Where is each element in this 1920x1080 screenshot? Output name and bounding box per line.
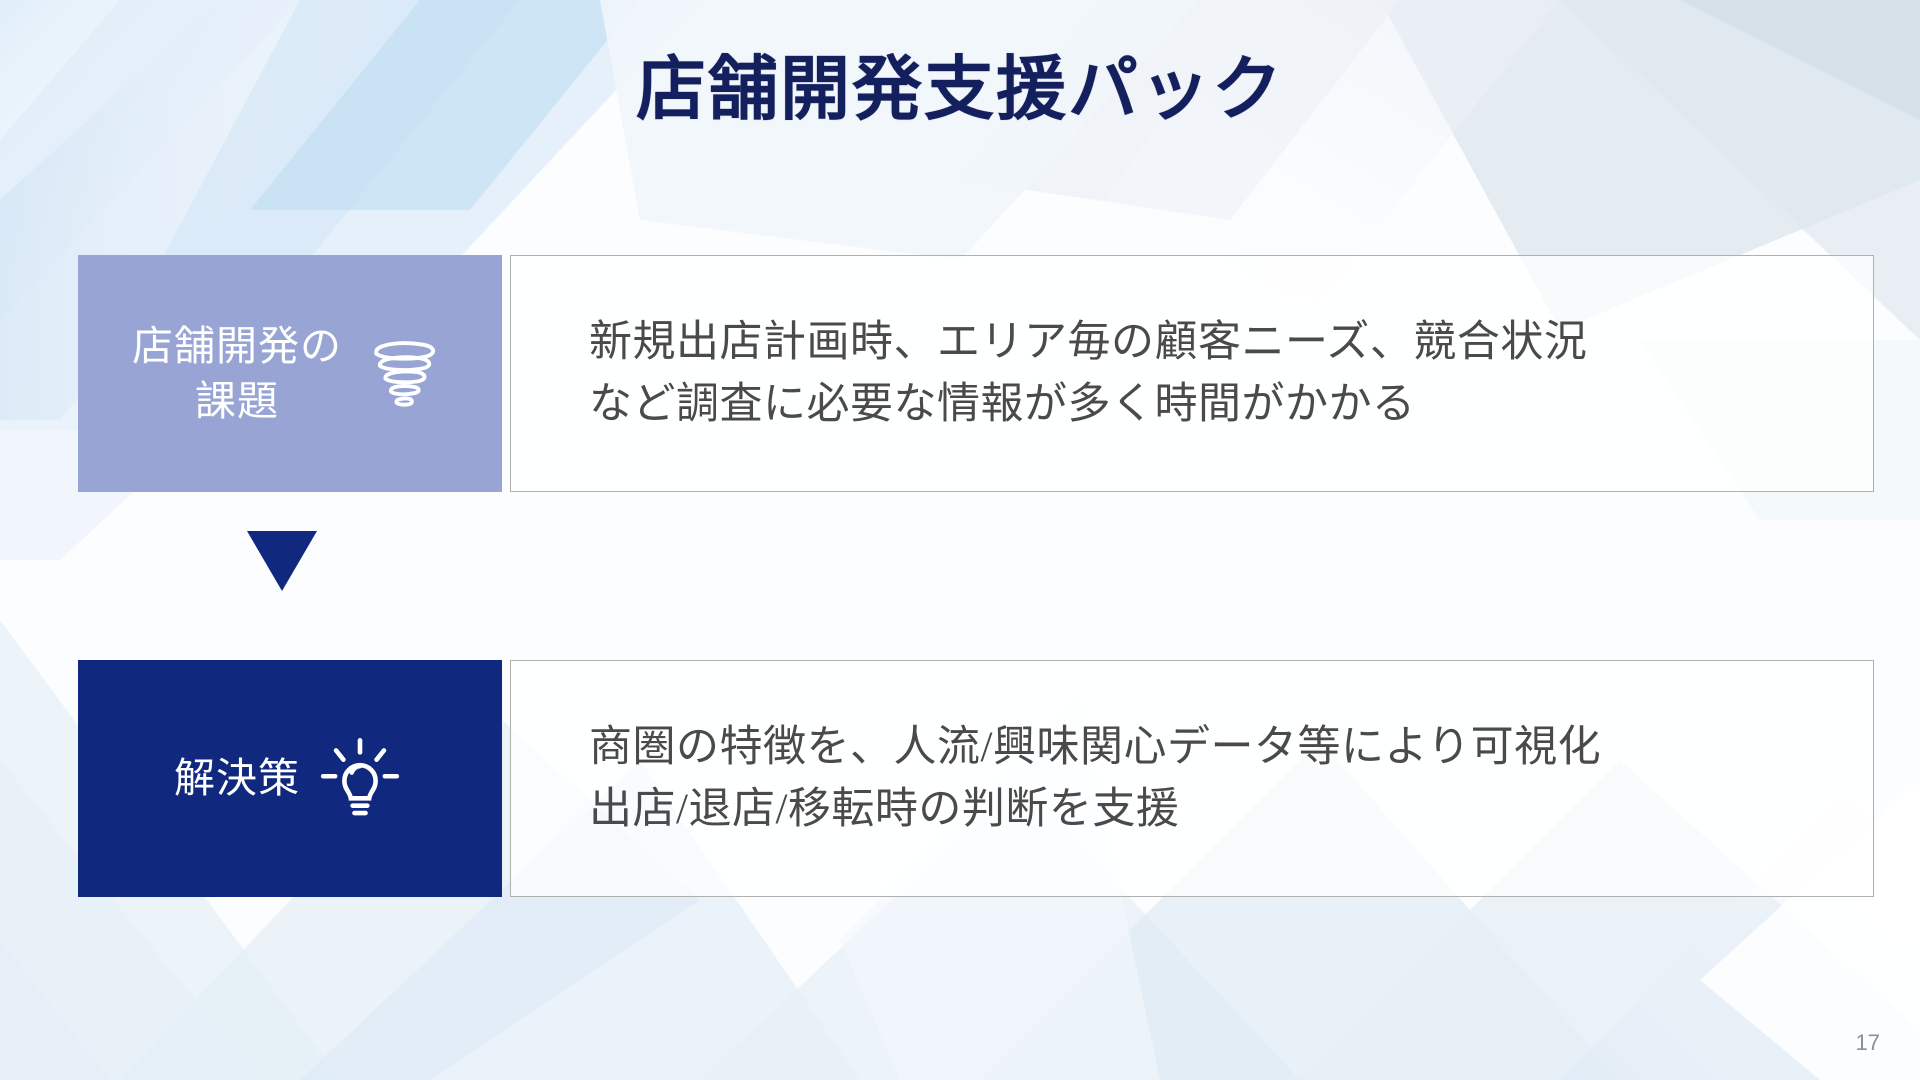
lightbulb-icon	[314, 733, 406, 825]
solution-content-text: 商圏の特徴を、人流/興味関心データ等により可視化 出店/退店/移転時の判断を支援	[589, 717, 1601, 839]
page-number: 17	[1856, 1030, 1880, 1056]
problem-row: 店舗開発の 課題 新規出店計画時、エリア毎の顧客ニーズ、競合状況 など調査に必要…	[78, 255, 1874, 492]
down-triangle-icon	[245, 525, 319, 599]
tornado-icon	[356, 328, 448, 420]
problem-content-box: 新規出店計画時、エリア毎の顧客ニーズ、競合状況 など調査に必要な情報が多く時間が…	[510, 255, 1874, 492]
problem-label-text: 店舗開発の 課題	[132, 319, 342, 427]
page-title: 店舗開発支援パック	[0, 52, 1920, 130]
problem-label-box: 店舗開発の 課題	[78, 255, 502, 492]
slide-canvas: 店舗開発支援パック 店舗開発の 課題 新規出店計画時、エリア毎の顧客ニーズ、競合…	[0, 0, 1920, 1080]
solution-content-box: 商圏の特徴を、人流/興味関心データ等により可視化 出店/退店/移転時の判断を支援	[510, 660, 1874, 897]
solution-row: 解決策	[78, 660, 1874, 897]
problem-content-text: 新規出店計画時、エリア毎の顧客ニーズ、競合状況 など調査に必要な情報が多く時間が…	[589, 312, 1587, 434]
solution-label-text: 解決策	[174, 751, 300, 805]
solution-label-box: 解決策	[78, 660, 502, 897]
